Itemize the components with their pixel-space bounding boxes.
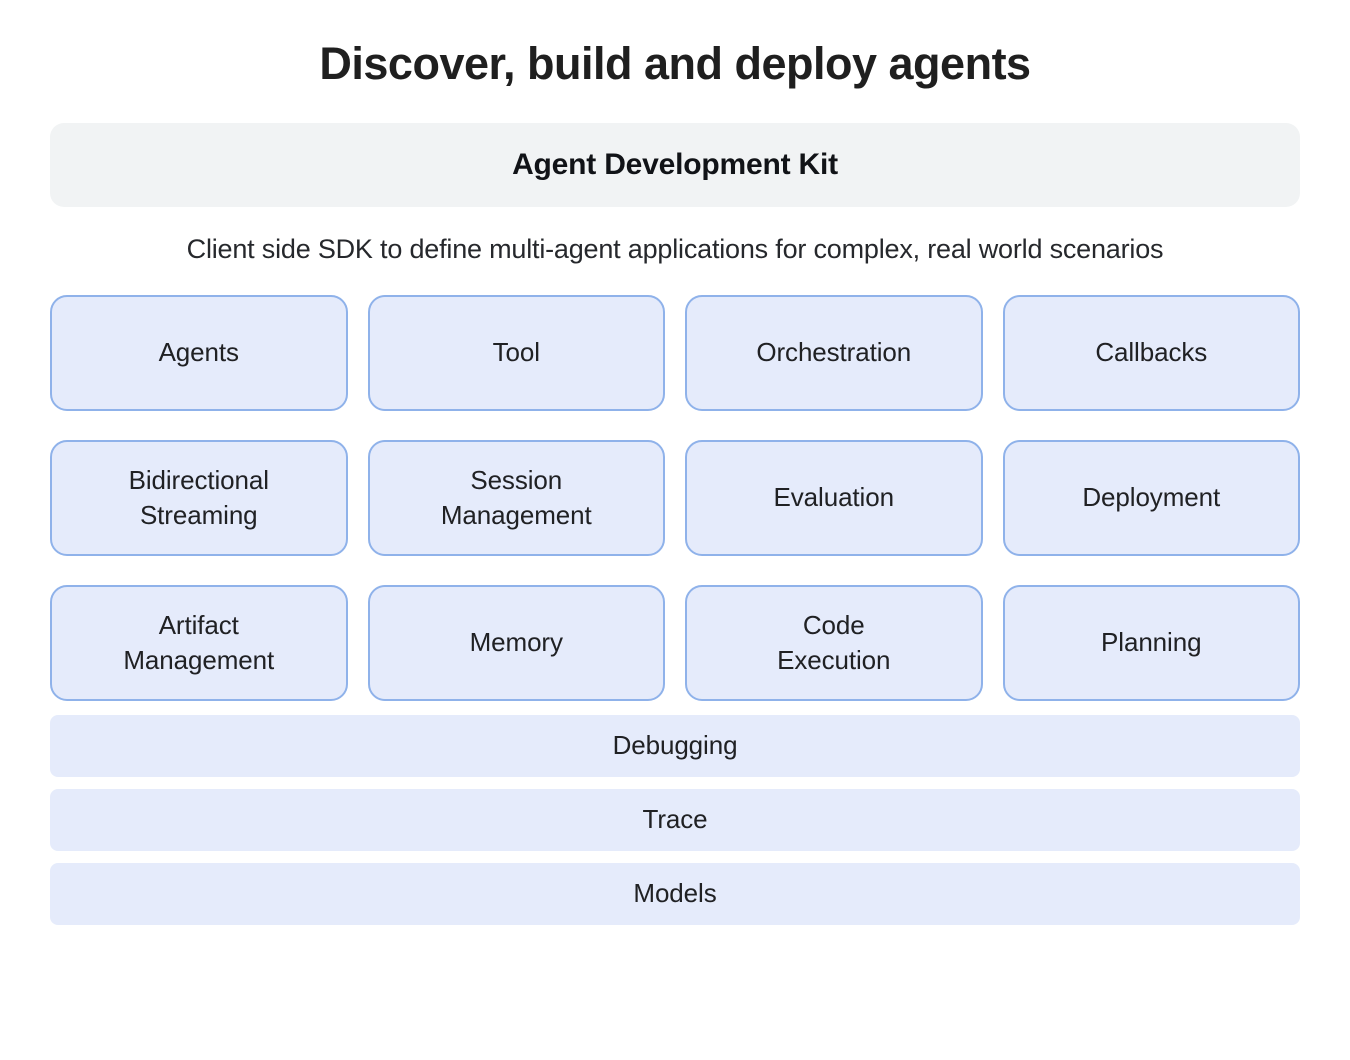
platform-bar-label: Trace [643,804,708,835]
diagram-stack: Agent Development Kit Client side SDK to… [50,90,1300,925]
agent-development-kit-header: Agent Development Kit [50,123,1300,207]
capability-tile-session-management[interactable]: Session Management [368,440,666,556]
capability-tile-label: Tool [493,335,540,369]
capability-tile-label: Callbacks [1095,335,1207,369]
capability-tile-deployment[interactable]: Deployment [1003,440,1301,556]
platform-bar-debugging[interactable]: Debugging [50,715,1300,777]
capability-tile-label: Artifact Management [123,608,274,677]
capability-tile-label: Evaluation [774,480,894,514]
capability-tile-label: Deployment [1082,480,1220,514]
platform-bar-stack: Debugging Trace Models [50,715,1300,925]
capability-tile-agents[interactable]: Agents [50,295,348,411]
platform-bar-label: Models [633,878,716,909]
capability-tile-label: Orchestration [756,335,911,369]
capability-tile-label: Agents [159,335,239,369]
capability-tile-evaluation[interactable]: Evaluation [685,440,983,556]
capability-tile-artifact-management[interactable]: Artifact Management [50,585,348,701]
capability-tile-label: Memory [470,625,563,659]
capability-tile-callbacks[interactable]: Callbacks [1003,295,1301,411]
capability-tile-orchestration[interactable]: Orchestration [685,295,983,411]
capability-tile-label: Session Management [441,463,592,532]
capability-tile-planning[interactable]: Planning [1003,585,1301,701]
platform-bar-models[interactable]: Models [50,863,1300,925]
page-title: Discover, build and deploy agents [0,0,1350,90]
capability-tile-memory[interactable]: Memory [368,585,666,701]
capability-tile-label: Planning [1101,625,1201,659]
platform-bar-label: Debugging [613,730,738,761]
capability-tile-grid: Agents Tool Orchestration Callbacks Bidi… [50,295,1300,701]
agent-development-kit-label: Agent Development Kit [512,148,838,182]
capability-tile-label: Code Execution [777,608,890,677]
capability-tile-label: Bidirectional Streaming [129,463,269,532]
kit-description: Client side SDK to define multi-agent ap… [50,233,1300,267]
platform-bar-trace[interactable]: Trace [50,789,1300,851]
adk-architecture-diagram: Discover, build and deploy agents Agent … [0,0,1350,1060]
capability-tile-tool[interactable]: Tool [368,295,666,411]
capability-tile-code-execution[interactable]: Code Execution [685,585,983,701]
capability-tile-bidirectional-streaming[interactable]: Bidirectional Streaming [50,440,348,556]
